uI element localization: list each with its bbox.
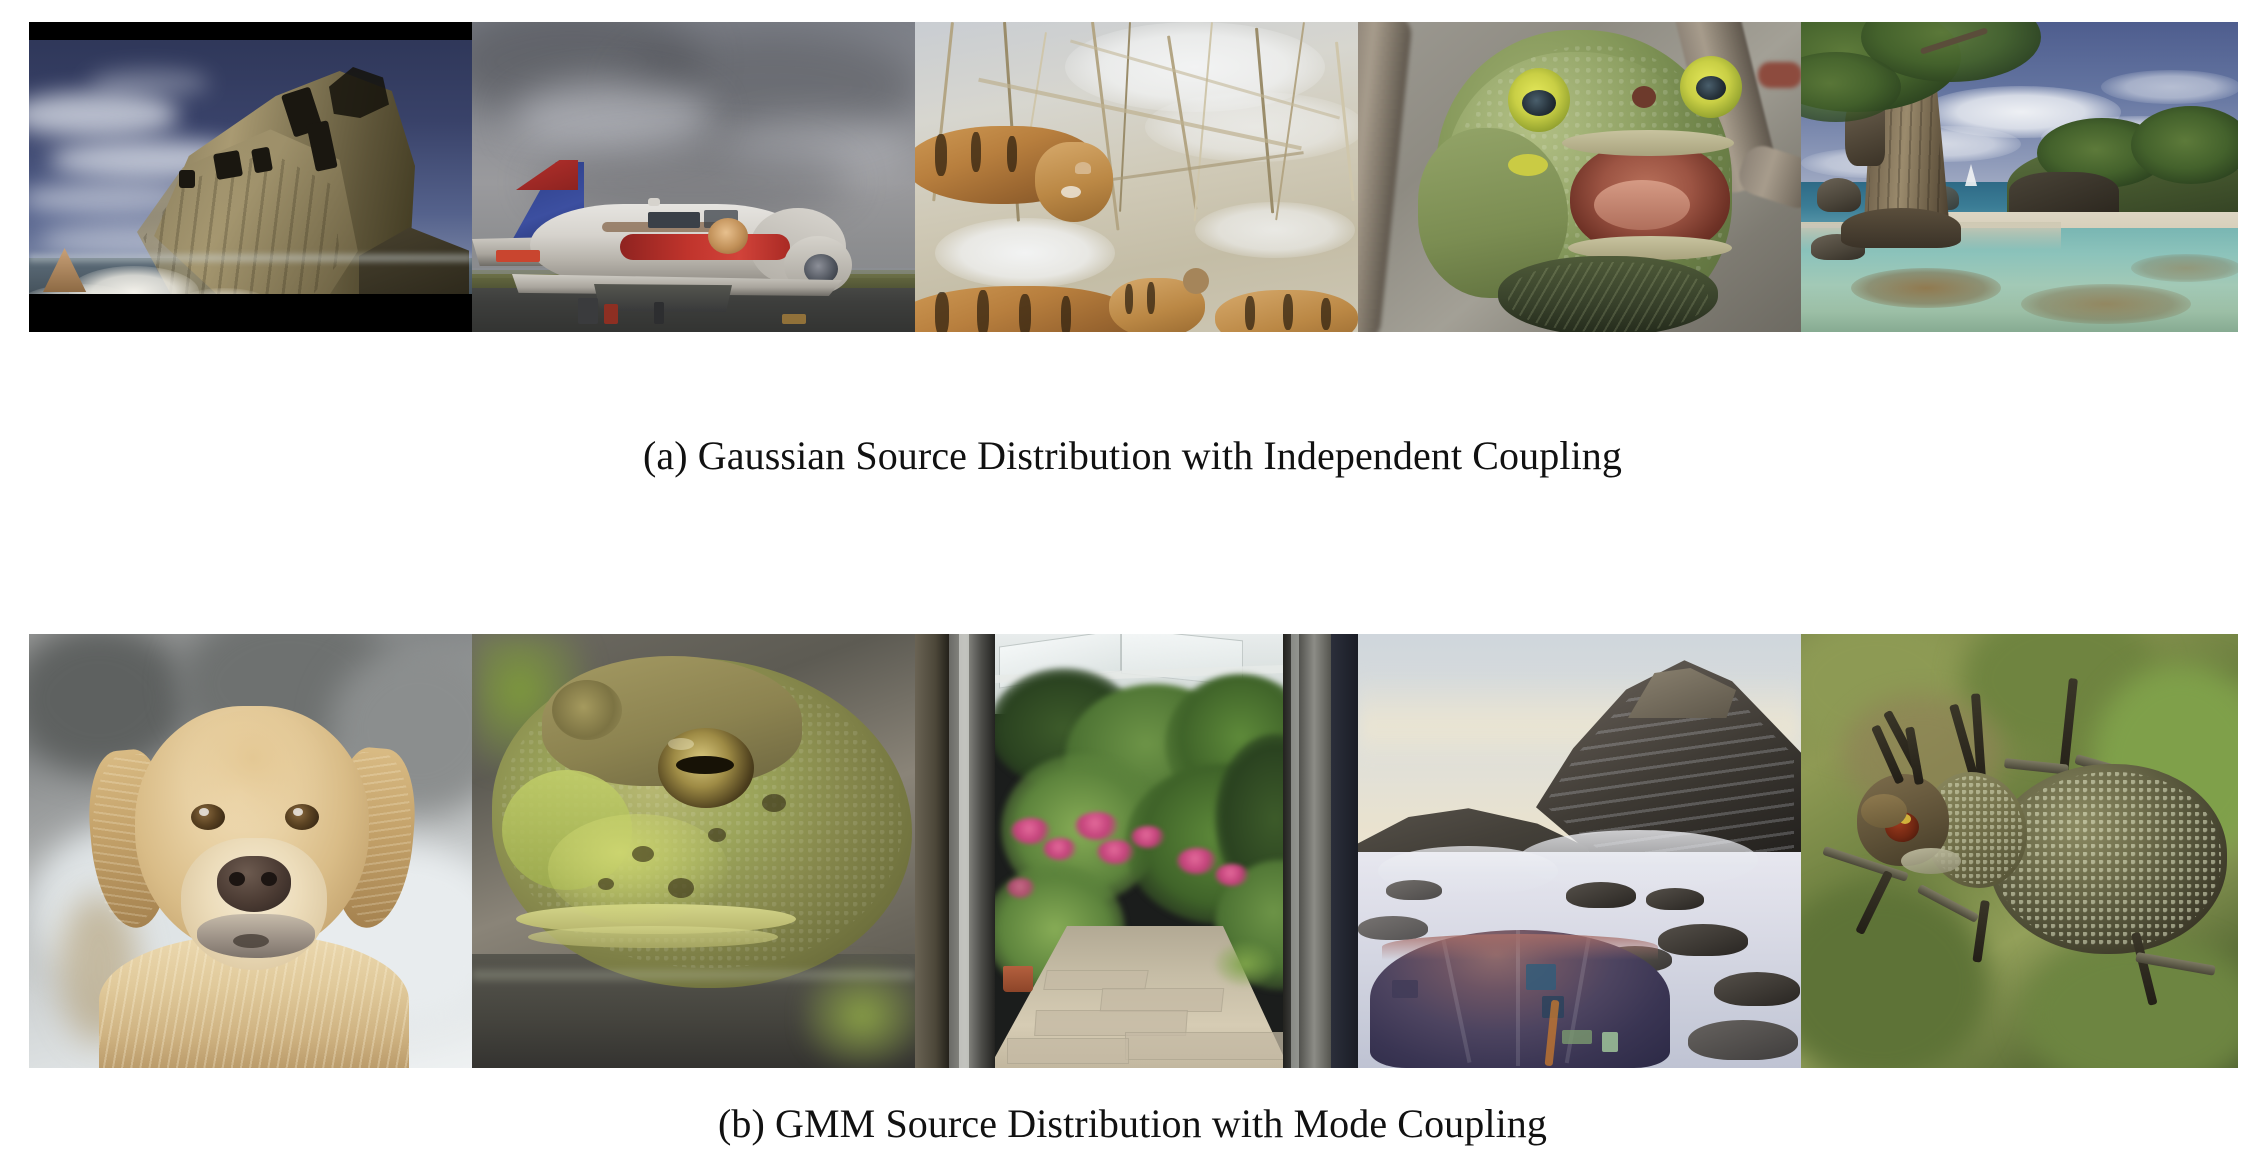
tiger-stripe bbox=[1245, 296, 1255, 330]
tongue bbox=[1594, 180, 1690, 230]
paving-stone bbox=[1125, 1032, 1287, 1060]
antenna bbox=[648, 198, 660, 206]
pink-flower bbox=[1075, 812, 1119, 840]
beetle-snout bbox=[1861, 794, 1907, 828]
door-post-right-highlight bbox=[1291, 634, 1299, 1068]
throat-scales bbox=[1508, 262, 1708, 332]
skin-spot bbox=[598, 878, 614, 890]
reef-patch bbox=[2131, 254, 2238, 282]
eye-pupil-slit bbox=[676, 756, 734, 774]
waterline-reflection bbox=[472, 970, 915, 980]
horizon-line bbox=[29, 254, 472, 262]
eye-highlight bbox=[293, 808, 303, 816]
snow-patch bbox=[1195, 202, 1355, 258]
exposed-rock bbox=[1646, 888, 1704, 910]
caption-row-b: (b) GMM Source Distribution with Mode Co… bbox=[0, 1100, 2265, 1147]
hull-opening bbox=[213, 150, 243, 180]
exposed-rock bbox=[1566, 882, 1636, 908]
pink-flower bbox=[1215, 864, 1249, 886]
tent-rainfly-top bbox=[1382, 934, 1658, 960]
tiger-muzzle bbox=[1061, 186, 1081, 198]
beetle-palp bbox=[1901, 848, 1961, 874]
tent-vent-patch bbox=[1392, 980, 1418, 998]
outer-wall-left bbox=[915, 634, 949, 1068]
ground-vehicle bbox=[578, 298, 598, 324]
nostril bbox=[1632, 86, 1656, 108]
panel-greenhouse-garden-path bbox=[915, 634, 1358, 1068]
exposed-rock bbox=[1386, 880, 1442, 900]
tiger-ear bbox=[1075, 162, 1091, 174]
right-eye bbox=[285, 804, 319, 830]
skin-spot bbox=[632, 846, 654, 862]
panel-mountain-camp-tent bbox=[1358, 634, 1801, 1068]
exposed-rock bbox=[1714, 972, 1800, 1006]
cloud bbox=[2101, 70, 2238, 104]
jaw-line bbox=[528, 926, 778, 948]
letterbox-bar-top bbox=[29, 22, 472, 40]
right-pupil bbox=[1696, 76, 1726, 100]
tiger-stripe bbox=[935, 134, 947, 176]
cheek-marking bbox=[1508, 154, 1548, 176]
pink-flower bbox=[1007, 878, 1035, 898]
skin-spot bbox=[762, 794, 786, 812]
tiger-stripe bbox=[1283, 294, 1293, 330]
tent-zipper-pull bbox=[1602, 1032, 1618, 1052]
paving-stone bbox=[1100, 988, 1225, 1012]
paving-stone bbox=[1043, 970, 1149, 990]
panel-tropical-beach-tree bbox=[1801, 22, 2238, 332]
scene-beetle bbox=[1801, 634, 2238, 1068]
skin-spot bbox=[708, 828, 726, 842]
paving-stone bbox=[1007, 1038, 1129, 1064]
tiger-stripe bbox=[977, 290, 989, 332]
nose bbox=[217, 856, 291, 912]
tree-base bbox=[1841, 208, 1961, 248]
eye-ridge bbox=[552, 680, 622, 740]
panel-airliner-on-tarmac bbox=[472, 22, 915, 332]
exposed-rock bbox=[1358, 916, 1428, 940]
tiger-stripe bbox=[971, 132, 981, 172]
eye-highlight bbox=[668, 738, 694, 750]
skin-spot bbox=[668, 878, 694, 898]
nose-art bbox=[708, 218, 748, 254]
scene-shipwreck bbox=[29, 22, 472, 332]
pink-flower bbox=[1097, 840, 1135, 864]
tent-window-patch bbox=[1526, 964, 1556, 990]
left-pupil bbox=[1522, 90, 1556, 116]
panel-lizard-open-mouth bbox=[1358, 22, 1801, 332]
tent-logo-patch bbox=[1562, 1030, 1592, 1044]
ground-vehicle bbox=[604, 304, 618, 324]
panel-weevil-beetle-on-leaf bbox=[1801, 634, 2238, 1068]
hull-opening bbox=[251, 147, 273, 174]
door-gap-dark bbox=[1331, 634, 1358, 1068]
abdomen-speckle-texture bbox=[1995, 772, 2221, 948]
exposed-rock bbox=[1688, 1020, 1798, 1060]
cockpit-window bbox=[648, 212, 700, 228]
reef-patch bbox=[2021, 284, 2191, 324]
panel-tigers-in-snowy-brush bbox=[915, 22, 1358, 332]
tiger-stripe bbox=[1061, 296, 1071, 332]
scene-frog bbox=[472, 634, 915, 1068]
exposed-rock bbox=[1658, 924, 1748, 956]
cloud bbox=[89, 70, 209, 96]
pink-flower bbox=[1043, 838, 1077, 860]
tiger-stripe bbox=[1007, 136, 1017, 172]
scene-tigers bbox=[915, 22, 1358, 332]
panel-golden-retriever-portrait bbox=[29, 634, 472, 1068]
pink-flower bbox=[1131, 826, 1165, 848]
terracotta-pot bbox=[1003, 966, 1033, 992]
eye-highlight bbox=[199, 808, 209, 816]
nostril bbox=[261, 872, 277, 886]
tiger-stripe bbox=[1321, 298, 1331, 330]
ground-vehicle bbox=[496, 250, 540, 262]
caption-row-a: (a) Gaussian Source Distribution with In… bbox=[0, 432, 2265, 479]
branch-accent bbox=[1758, 62, 1801, 88]
pink-flower bbox=[1011, 818, 1051, 844]
image-row-a bbox=[29, 22, 2238, 332]
tiger-stripe bbox=[935, 292, 949, 332]
pink-flower bbox=[1177, 848, 1217, 874]
scene-lizard bbox=[1358, 22, 1801, 332]
left-eye bbox=[191, 804, 225, 830]
snow-ledge bbox=[1518, 830, 1758, 890]
ground-vehicle bbox=[654, 302, 664, 324]
tiger-background-head bbox=[1035, 142, 1113, 222]
path-edge-plant bbox=[1215, 942, 1275, 986]
tiger-stripe bbox=[1125, 284, 1133, 314]
scene-dog bbox=[29, 634, 472, 1068]
engine-intake bbox=[804, 254, 838, 284]
mouth-line bbox=[233, 934, 269, 948]
upper-jaw bbox=[1562, 130, 1734, 156]
figure-page: (a) Gaussian Source Distribution with In… bbox=[0, 0, 2265, 1176]
nostril bbox=[229, 872, 245, 886]
hull-opening bbox=[179, 170, 195, 188]
reef-patch bbox=[1851, 268, 2001, 308]
panel-bullfrog-in-water bbox=[472, 634, 915, 1068]
sea-rock bbox=[1817, 178, 1861, 212]
tiger-stripe bbox=[1147, 282, 1155, 314]
chin-highlight bbox=[548, 814, 728, 924]
door-post-left-highlight bbox=[959, 634, 969, 1068]
scene-greenhouse bbox=[915, 634, 1358, 1068]
scene-beach bbox=[1801, 22, 2238, 332]
letterbox-bar-bottom bbox=[29, 294, 472, 332]
panel-shipwreck-rock-in-sea bbox=[29, 22, 472, 332]
snow-patch bbox=[935, 218, 1115, 288]
tiger-stripe bbox=[1019, 294, 1031, 332]
ground-vehicle bbox=[782, 314, 806, 324]
scene-mountain-camp bbox=[1358, 634, 1801, 1068]
door-post-left bbox=[949, 634, 995, 1068]
image-row-b bbox=[29, 634, 2238, 1068]
scene-airliner bbox=[472, 22, 915, 332]
livery-stripe bbox=[620, 234, 790, 260]
tiger-ear bbox=[1183, 268, 1209, 294]
